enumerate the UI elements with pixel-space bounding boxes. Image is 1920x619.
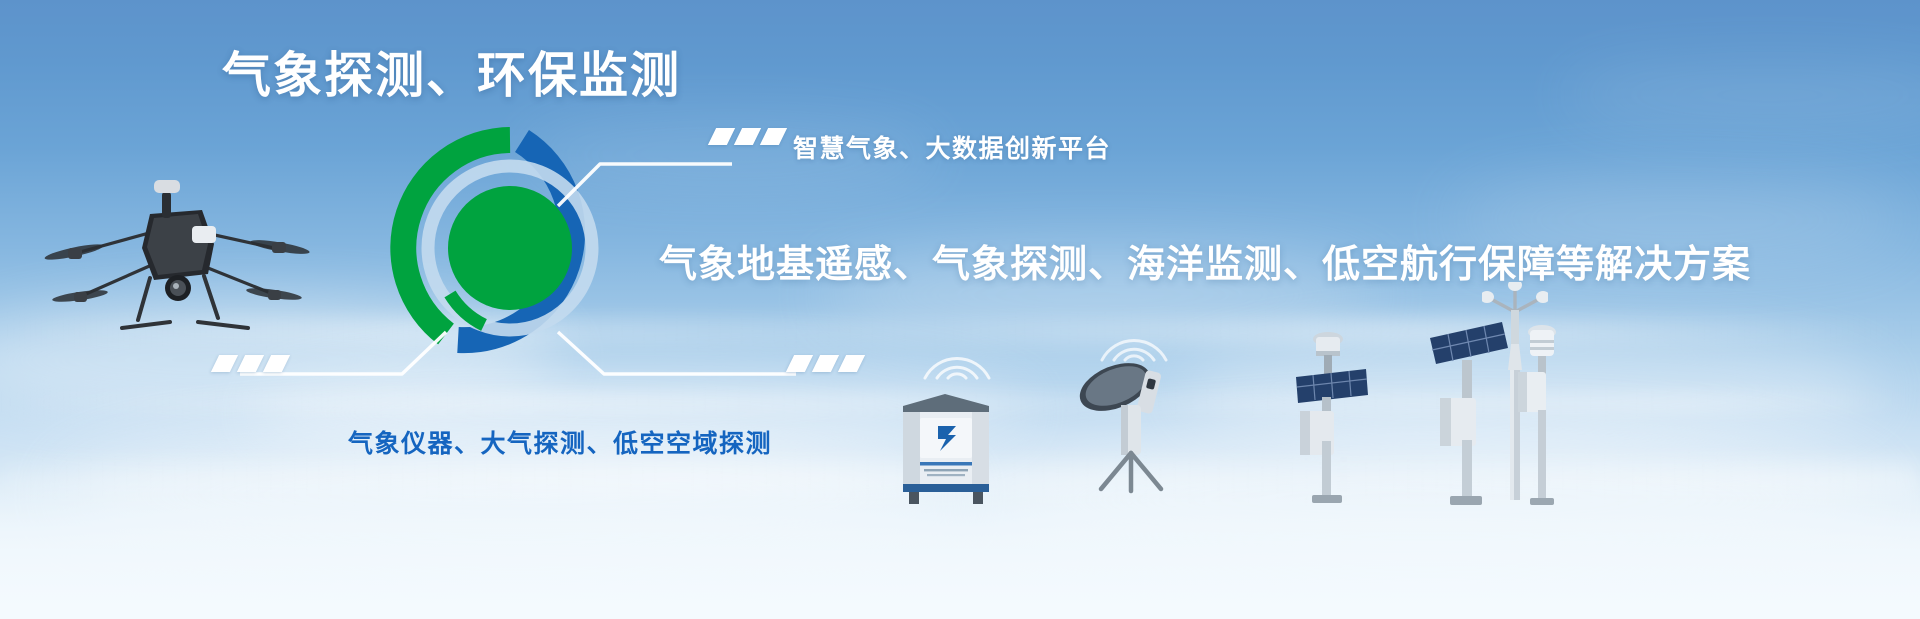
weather-detection-banner: 气象探测、环保监测 智慧气象、大数据创新平台 气象地基遥感、气象探测、海洋监测、… [0, 0, 1920, 619]
sensor-pole-icon [1498, 310, 1558, 505]
signal-waves-icon [1082, 300, 1186, 364]
slash-marks-icon [215, 355, 286, 372]
equipment-cabinet-icon [893, 388, 997, 506]
banner-title: 气象探测、环保监测 [222, 50, 681, 104]
banner-headline: 气象地基遥感、气象探测、海洋监测、低空航行保障等解决方案 [659, 233, 1751, 288]
callout-top-label: 智慧气象、大数据创新平台 [793, 129, 1111, 165]
cloud-wisp [1560, 60, 1920, 130]
satellite-dish-icon [1075, 357, 1185, 495]
slash-marks-icon [790, 355, 861, 372]
callout-bottom-label: 气象仪器、大气探测、低空空域探测 [348, 424, 772, 460]
drone-icon [42, 152, 310, 342]
signal-waves-icon [905, 318, 1009, 382]
solar-weather-station-icon [1280, 325, 1376, 503]
slash-marks-icon [712, 128, 783, 145]
concentric-ring-logo [388, 126, 632, 370]
